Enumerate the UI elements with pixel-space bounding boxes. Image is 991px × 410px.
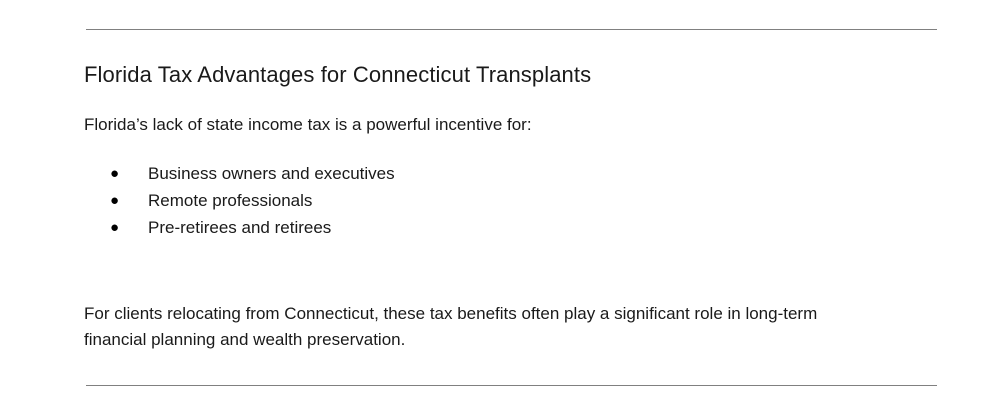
list-item-label: Remote professionals xyxy=(148,191,312,210)
list-item-label: Pre-retirees and retirees xyxy=(148,218,331,237)
closing-paragraph: For clients relocating from Connecticut,… xyxy=(84,301,884,353)
list-item: ● Remote professionals xyxy=(84,187,944,214)
list-item: ● Business owners and executives xyxy=(84,160,944,187)
intro-paragraph: Florida’s lack of state income tax is a … xyxy=(84,112,944,138)
bullet-icon: ● xyxy=(110,187,119,214)
document-content: Florida Tax Advantages for Connecticut T… xyxy=(84,60,944,353)
bullet-icon: ● xyxy=(110,214,119,241)
page-title: Florida Tax Advantages for Connecticut T… xyxy=(84,60,944,90)
top-divider xyxy=(86,29,937,30)
list-item-label: Business owners and executives xyxy=(148,164,395,183)
paragraph-spacer xyxy=(84,241,944,301)
bullet-list: ● Business owners and executives ● Remot… xyxy=(84,160,944,241)
document-page: Florida Tax Advantages for Connecticut T… xyxy=(0,0,991,410)
list-item: ● Pre-retirees and retirees xyxy=(84,214,944,241)
bottom-divider xyxy=(86,385,937,386)
bullet-icon: ● xyxy=(110,160,119,187)
